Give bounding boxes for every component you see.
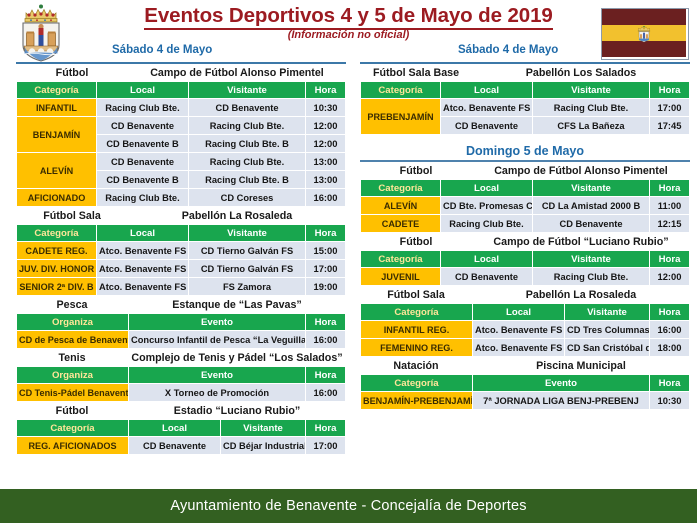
cell-visitante: Racing Club Bte. B bbox=[189, 135, 306, 153]
section-caption-futbol-sala-base: Fútbol Sala BasePabellón Los Salados bbox=[360, 67, 690, 79]
cell-categoria: CADETE REG. bbox=[17, 242, 97, 260]
table-row: INFANTILRacing Club Bte.CD Benavente10:3… bbox=[17, 99, 346, 117]
cell-categoria: FEMENINO REG. bbox=[361, 339, 473, 357]
section-sport-label: Tenis bbox=[16, 352, 128, 364]
column-header-evento: Evento bbox=[129, 367, 306, 384]
cell-local: Atco. Benavente FS bbox=[97, 278, 189, 296]
table-header-row: CategoríaLocalVisitanteHora bbox=[17, 82, 346, 99]
section-venue-label: Pabellón La Rosaleda bbox=[128, 210, 346, 222]
cell-categoria: CD Tenis-Pádel Benavente bbox=[17, 384, 129, 402]
poster: Eventos Deportivos 4 y 5 de Mayo de 2019… bbox=[0, 0, 697, 523]
cell-hora: 12:00 bbox=[306, 135, 346, 153]
column-header-categoria: Categoría bbox=[17, 420, 129, 437]
section-venue-label: Complejo de Tenis y Pádel “Los Salados” bbox=[128, 352, 346, 364]
cell-hora: 15:00 bbox=[306, 242, 346, 260]
column-header-visitante: Visitante bbox=[533, 82, 650, 99]
section-venue-label: Piscina Municipal bbox=[472, 360, 690, 372]
column-header-local: Local bbox=[129, 420, 221, 437]
table-row: SENIOR 2ª DIV. BAtco. Benavente FSFS Zam… bbox=[17, 278, 346, 296]
cell-categoria: INFANTIL REG. bbox=[361, 321, 473, 339]
table-row: REG. AFICIONADOSCD BenaventeCD Béjar Ind… bbox=[17, 437, 346, 455]
divider-rule bbox=[16, 62, 346, 64]
table-row: CD de Pesca de BenaventeConcurso Infanti… bbox=[17, 331, 346, 349]
table-header-row: CategoríaEventoHora bbox=[361, 375, 690, 392]
table-row: JUV. DIV. HONORAtco. Benavente FSCD Tier… bbox=[17, 260, 346, 278]
table-header-row: CategoríaLocalVisitanteHora bbox=[361, 180, 690, 197]
schedule-table-futbol: CategoríaLocalVisitanteHoraREG. AFICIONA… bbox=[16, 419, 346, 455]
table-row: ALEVÍNCD Bte. Promesas CFCD La Amistad 2… bbox=[361, 197, 690, 215]
column-header-hora: Hora bbox=[306, 367, 346, 384]
page-title: Eventos Deportivos 4 y 5 de Mayo de 2019 bbox=[0, 4, 697, 28]
section-sport-label: Natación bbox=[360, 360, 472, 372]
section-sport-label: Fútbol bbox=[360, 165, 472, 177]
day-label-saturday-left: Sábado 4 de Mayo bbox=[112, 44, 212, 56]
column-header-categoria: Categoría bbox=[361, 82, 441, 99]
table-row: JUVENILCD BenaventeRacing Club Bte.12:00 bbox=[361, 268, 690, 286]
column-saturday-left: FútbolCampo de Fútbol Alonso PimentelCat… bbox=[16, 62, 346, 456]
cell-categoria: INFANTIL bbox=[17, 99, 97, 117]
column-header-hora: Hora bbox=[306, 420, 346, 437]
table-header-row: OrganizaEventoHora bbox=[17, 367, 346, 384]
section-venue-label: Pabellón Los Salados bbox=[472, 67, 690, 79]
column-header-evento: Evento bbox=[129, 314, 306, 331]
column-header-hora: Hora bbox=[306, 82, 346, 99]
page-subtitle: (Información no oficial) bbox=[0, 29, 697, 41]
table-row: AFICIONADORacing Club Bte.CD Coreses16:0… bbox=[17, 189, 346, 207]
schedule-table-futbol: CategoríaLocalVisitanteHoraALEVÍNCD Bte.… bbox=[360, 179, 690, 233]
cell-visitante: CD Coreses bbox=[189, 189, 306, 207]
column-header-local: Local bbox=[473, 304, 565, 321]
column-header-visitante: Visitante bbox=[533, 251, 650, 268]
cell-visitante: Racing Club Bte. bbox=[533, 268, 650, 286]
section-venue-label: Campo de Fútbol Alonso Pimentel bbox=[472, 165, 690, 177]
cell-hora: 18:00 bbox=[650, 339, 690, 357]
column-header-visitante: Visitante bbox=[189, 225, 306, 242]
column-header-local: Local bbox=[441, 251, 533, 268]
table-row: BENJAMÍN-PREBENJAMÍN7ª JORNADA LIGA BENJ… bbox=[361, 392, 690, 410]
cell-visitante: Racing Club Bte. bbox=[189, 117, 306, 135]
column-header-evento: Evento bbox=[473, 375, 650, 392]
section-caption-tenis: TenisComplejo de Tenis y Pádel “Los Sala… bbox=[16, 352, 346, 364]
page-title-text: Eventos Deportivos 4 y 5 de Mayo de 2019 bbox=[144, 4, 552, 30]
table-header-row: CategoríaLocalVisitanteHora bbox=[17, 420, 346, 437]
table-header-row: OrganizaEventoHora bbox=[17, 314, 346, 331]
cell-local: CD Benavente bbox=[129, 437, 221, 455]
column-header-local: Local bbox=[441, 82, 533, 99]
column-header-hora: Hora bbox=[650, 251, 690, 268]
section-caption-futbol: FútbolCampo de Fútbol Alonso Pimentel bbox=[360, 165, 690, 177]
cell-hora: 13:00 bbox=[306, 153, 346, 171]
cell-hora: 12:00 bbox=[650, 268, 690, 286]
table-row: CADETERacing Club Bte.CD Benavente12:15 bbox=[361, 215, 690, 233]
day-label-saturday-right: Sábado 4 de Mayo bbox=[458, 44, 558, 56]
cell-local: CD Benavente B bbox=[97, 171, 189, 189]
column-header-hora: Hora bbox=[650, 375, 690, 392]
section-caption-futbol-sala: Fútbol SalaPabellón La Rosaleda bbox=[360, 289, 690, 301]
section-caption-natacion: NataciónPiscina Municipal bbox=[360, 360, 690, 372]
section-sport-label: Fútbol bbox=[16, 67, 128, 79]
section-sport-label: Fútbol Sala bbox=[16, 210, 128, 222]
cell-local: Atco. Benavente FS bbox=[97, 260, 189, 278]
cell-hora: 12:15 bbox=[650, 215, 690, 233]
schedule-table-tenis: OrganizaEventoHoraCD Tenis-Pádel Benaven… bbox=[16, 366, 346, 402]
cell-hora: 10:30 bbox=[650, 392, 690, 410]
column-header-local: Local bbox=[441, 180, 533, 197]
section-venue-label: Campo de Fútbol Alonso Pimentel bbox=[128, 67, 346, 79]
column-header-categoria: Categoría bbox=[361, 251, 441, 268]
schedule-table-futbol: CategoríaLocalVisitanteHoraJUVENILCD Ben… bbox=[360, 250, 690, 286]
column-header-categoria: Categoría bbox=[361, 304, 473, 321]
section-sport-label: Fútbol bbox=[360, 236, 472, 248]
cell-visitante: CD Benavente bbox=[533, 215, 650, 233]
cell-visitante: CD Tierno Galván FS bbox=[189, 260, 306, 278]
column-header-categoria: Categoría bbox=[17, 82, 97, 99]
schedule-columns: FútbolCampo de Fútbol Alonso PimentelCat… bbox=[0, 62, 697, 489]
cell-local: Atco. Benavente FS bbox=[473, 339, 565, 357]
cell-hora: 17:45 bbox=[650, 117, 690, 135]
poster-footer: Ayuntamiento de Benavente - Concejalía d… bbox=[0, 489, 697, 523]
table-row: INFANTIL REG.Atco. Benavente FSCD Tres C… bbox=[361, 321, 690, 339]
section-sport-label: Pesca bbox=[16, 299, 128, 311]
schedule-table-futbol-sala: CategoríaLocalVisitanteHoraINFANTIL REG.… bbox=[360, 303, 690, 357]
column-header-hora: Hora bbox=[306, 314, 346, 331]
column-header-local: Local bbox=[97, 82, 189, 99]
section-caption-futbol: FútbolEstadio “Luciano Rubio” bbox=[16, 405, 346, 417]
column-header-categoria: Categoría bbox=[361, 180, 441, 197]
cell-hora: 17:00 bbox=[306, 437, 346, 455]
section-caption-futbol-sala: Fútbol SalaPabellón La Rosaleda bbox=[16, 210, 346, 222]
table-row: FEMENINO REG.Atco. Benavente FSCD San Cr… bbox=[361, 339, 690, 357]
poster-header: Eventos Deportivos 4 y 5 de Mayo de 2019… bbox=[0, 0, 697, 62]
cell-local: CD Benavente bbox=[97, 117, 189, 135]
divider-rule bbox=[360, 62, 690, 64]
cell-hora: 16:00 bbox=[306, 331, 346, 349]
column-header-hora: Hora bbox=[650, 180, 690, 197]
cell-hora: 11:00 bbox=[650, 197, 690, 215]
day-label-sunday: Domingo 5 de Mayo bbox=[360, 144, 690, 158]
section-sport-label: Fútbol Sala Base bbox=[360, 67, 472, 79]
cell-categoria: AFICIONADO bbox=[17, 189, 97, 207]
footer-text: Ayuntamiento de Benavente - Concejalía d… bbox=[170, 498, 526, 514]
cell-visitante: CD Béjar Industrial bbox=[221, 437, 306, 455]
cell-local: Racing Club Bte. bbox=[97, 99, 189, 117]
cell-categoria: JUV. DIV. HONOR bbox=[17, 260, 97, 278]
cell-local: Atco. Benavente FS bbox=[473, 321, 565, 339]
cell-local: CD Bte. Promesas CF bbox=[441, 197, 533, 215]
table-row: CD Tenis-Pádel BenaventeX Torneo de Prom… bbox=[17, 384, 346, 402]
column-header-hora: Hora bbox=[306, 225, 346, 242]
column-header-categoria: Categoría bbox=[17, 225, 97, 242]
cell-visitante: CD San Cristóbal de Segovia bbox=[565, 339, 650, 357]
column-header-visitante: Visitante bbox=[565, 304, 650, 321]
table-row: BENJAMÍNCD BenaventeRacing Club Bte.12:0… bbox=[17, 117, 346, 135]
cell-local: Atco. Benavente FS bbox=[97, 242, 189, 260]
cell-hora: 17:00 bbox=[650, 99, 690, 117]
schedule-table-futbol-sala: CategoríaLocalVisitanteHoraCADETE REG.At… bbox=[16, 224, 346, 296]
column-header-hora: Hora bbox=[650, 82, 690, 99]
cell-hora: 17:00 bbox=[306, 260, 346, 278]
column-saturday-right: Fútbol Sala BasePabellón Los SaladosCate… bbox=[360, 62, 690, 411]
cell-categoria: REG. AFICIONADOS bbox=[17, 437, 129, 455]
cell-categoria: ALEVÍN bbox=[17, 153, 97, 189]
schedule-table-futbol: CategoríaLocalVisitanteHoraINFANTILRacin… bbox=[16, 81, 346, 207]
cell-visitante: FS Zamora bbox=[189, 278, 306, 296]
cell-categoria: CD de Pesca de Benavente bbox=[17, 331, 129, 349]
section-venue-label: Estadio “Luciano Rubio” bbox=[128, 405, 346, 417]
table-header-row: CategoríaLocalVisitanteHora bbox=[361, 251, 690, 268]
cell-local: Racing Club Bte. bbox=[441, 215, 533, 233]
section-sport-label: Fútbol Sala bbox=[360, 289, 472, 301]
cell-evento: 7ª JORNADA LIGA BENJ-PREBENJ bbox=[473, 392, 650, 410]
cell-categoria: JUVENIL bbox=[361, 268, 441, 286]
cell-local: CD Benavente B bbox=[97, 135, 189, 153]
column-header-local: Local bbox=[97, 225, 189, 242]
cell-hora: 10:30 bbox=[306, 99, 346, 117]
section-venue-label: Campo de Fútbol “Luciano Rubio” bbox=[472, 236, 690, 248]
section-caption-futbol: FútbolCampo de Fútbol “Luciano Rubio” bbox=[360, 236, 690, 248]
cell-local: Racing Club Bte. bbox=[97, 189, 189, 207]
cell-local: Atco. Benavente FS bbox=[441, 99, 533, 117]
cell-visitante: CD Benavente bbox=[189, 99, 306, 117]
cell-local: CD Benavente bbox=[97, 153, 189, 171]
schedule-table-pesca: OrganizaEventoHoraCD de Pesca de Benaven… bbox=[16, 313, 346, 349]
cell-local: CD Benavente bbox=[441, 117, 533, 135]
column-header-organiza: Organiza bbox=[17, 367, 129, 384]
cell-categoria: SENIOR 2ª DIV. B bbox=[17, 278, 97, 296]
cell-evento: X Torneo de Promoción bbox=[129, 384, 306, 402]
municipal-flag-icon bbox=[601, 8, 689, 60]
column-header-visitante: Visitante bbox=[533, 180, 650, 197]
column-header-categoria: Categoría bbox=[361, 375, 473, 392]
cell-evento: Concurso Infantil de Pesca “La Veguilla” bbox=[129, 331, 306, 349]
schedule-table-futbol-sala-base: CategoríaLocalVisitanteHoraPREBENJAMÍNAt… bbox=[360, 81, 690, 135]
table-row: ALEVÍNCD BenaventeRacing Club Bte.13:00 bbox=[17, 153, 346, 171]
cell-categoria: BENJAMÍN bbox=[17, 117, 97, 153]
column-header-hora: Hora bbox=[650, 304, 690, 321]
section-venue-label: Estanque de “Las Pavas” bbox=[128, 299, 346, 311]
table-header-row: CategoríaLocalVisitanteHora bbox=[361, 82, 690, 99]
table-header-row: CategoríaLocalVisitanteHora bbox=[17, 225, 346, 242]
cell-categoria: BENJAMÍN-PREBENJAMÍN bbox=[361, 392, 473, 410]
cell-categoria: CADETE bbox=[361, 215, 441, 233]
section-venue-label: Pabellón La Rosaleda bbox=[472, 289, 690, 301]
column-header-organiza: Organiza bbox=[17, 314, 129, 331]
cell-hora: 12:00 bbox=[306, 117, 346, 135]
column-header-visitante: Visitante bbox=[221, 420, 306, 437]
cell-visitante: CFS La Bañeza bbox=[533, 117, 650, 135]
cell-visitante: Racing Club Bte. bbox=[189, 153, 306, 171]
cell-hora: 16:00 bbox=[650, 321, 690, 339]
schedule-table-natacion: CategoríaEventoHoraBENJAMÍN-PREBENJAMÍN7… bbox=[360, 374, 690, 410]
cell-visitante: CD Tierno Galván FS bbox=[189, 242, 306, 260]
cell-visitante: Racing Club Bte. B bbox=[189, 171, 306, 189]
cell-hora: 19:00 bbox=[306, 278, 346, 296]
cell-categoria: ALEVÍN bbox=[361, 197, 441, 215]
section-sport-label: Fútbol bbox=[16, 405, 128, 417]
cell-hora: 13:00 bbox=[306, 171, 346, 189]
cell-visitante: CD Tres Columnas bbox=[565, 321, 650, 339]
column-header-visitante: Visitante bbox=[189, 82, 306, 99]
section-caption-pesca: PescaEstanque de “Las Pavas” bbox=[16, 299, 346, 311]
table-row: CADETE REG.Atco. Benavente FSCD Tierno G… bbox=[17, 242, 346, 260]
cell-local: CD Benavente bbox=[441, 268, 533, 286]
cell-categoria: PREBENJAMÍN bbox=[361, 99, 441, 135]
table-header-row: CategoríaLocalVisitanteHora bbox=[361, 304, 690, 321]
divider-rule bbox=[360, 160, 690, 162]
cell-visitante: Racing Club Bte. bbox=[533, 99, 650, 117]
cell-hora: 16:00 bbox=[306, 384, 346, 402]
cell-hora: 16:00 bbox=[306, 189, 346, 207]
cell-visitante: CD La Amistad 2000 B bbox=[533, 197, 650, 215]
section-caption-futbol: FútbolCampo de Fútbol Alonso Pimentel bbox=[16, 67, 346, 79]
table-row: PREBENJAMÍNAtco. Benavente FSRacing Club… bbox=[361, 99, 690, 117]
